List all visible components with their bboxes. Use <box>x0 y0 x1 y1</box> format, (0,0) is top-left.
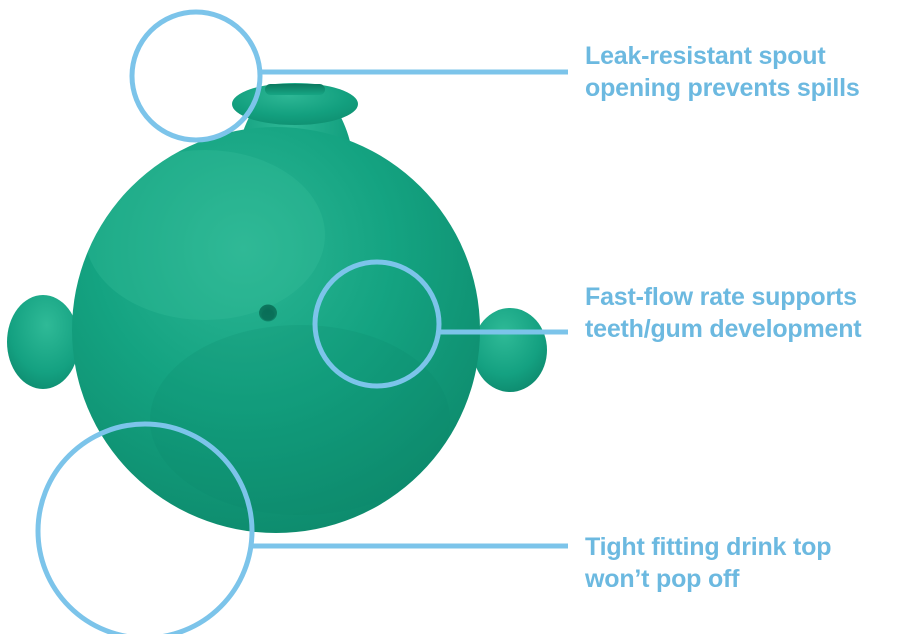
product-sippy-cup-lid <box>7 83 547 533</box>
vent-hole-inner-shadow <box>262 310 275 321</box>
body-soft-sheen <box>150 325 450 515</box>
product-right-tab <box>473 308 547 392</box>
callout-label-tight-fitting-drink-top: Tight fitting drink top won’t pop off <box>585 531 831 595</box>
product-left-tab <box>7 295 79 389</box>
product-feature-infographic: Leak-resistant spout opening prevents sp… <box>0 0 910 634</box>
spout-opening-slot <box>265 84 325 95</box>
callout-marker-leak-resistant-spout[interactable] <box>132 12 568 140</box>
callout-label-leak-resistant-spout: Leak-resistant spout opening prevents sp… <box>585 40 860 104</box>
callout-circle-1 <box>132 12 260 140</box>
callout-label-fast-flow-rate: Fast-flow rate supports teeth/gum develo… <box>585 281 861 345</box>
body-specular-highlight <box>85 150 325 320</box>
